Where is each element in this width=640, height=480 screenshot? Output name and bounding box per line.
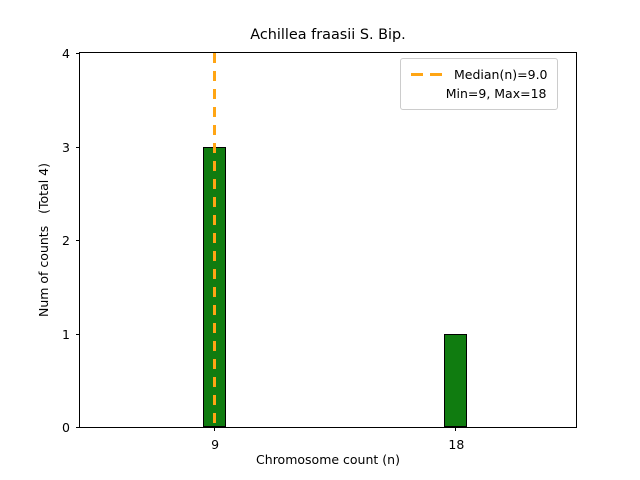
legend-entry-median: Median(n)=9.0 (410, 65, 548, 84)
x-tick-9: 9 (214, 427, 215, 431)
dashed-line-icon (410, 69, 444, 81)
y-tick-0: 0 (76, 427, 80, 428)
legend-label-median: Median(n)=9.0 (454, 67, 548, 82)
x-tick-label-9: 9 (211, 437, 219, 452)
chart-title: Achillea fraasii S. Bip. (79, 27, 577, 44)
x-tick-18: 18 (455, 427, 456, 431)
figure-canvas: Achillea fraasii S. Bip. 0 1 2 3 4 9 18 (0, 0, 640, 480)
median-line (213, 53, 216, 427)
legend-entry-minmax: Min=9, Max=18 (410, 84, 548, 103)
legend: Median(n)=9.0 Min=9, Max=18 (400, 58, 558, 110)
x-axis-label: Chromosome count (n) (79, 452, 577, 467)
x-tick-label-18: 18 (448, 437, 464, 452)
y-axis-label: Num of counts (Total 4) (36, 52, 64, 428)
legend-label-minmax: Min=9, Max=18 (446, 86, 547, 101)
